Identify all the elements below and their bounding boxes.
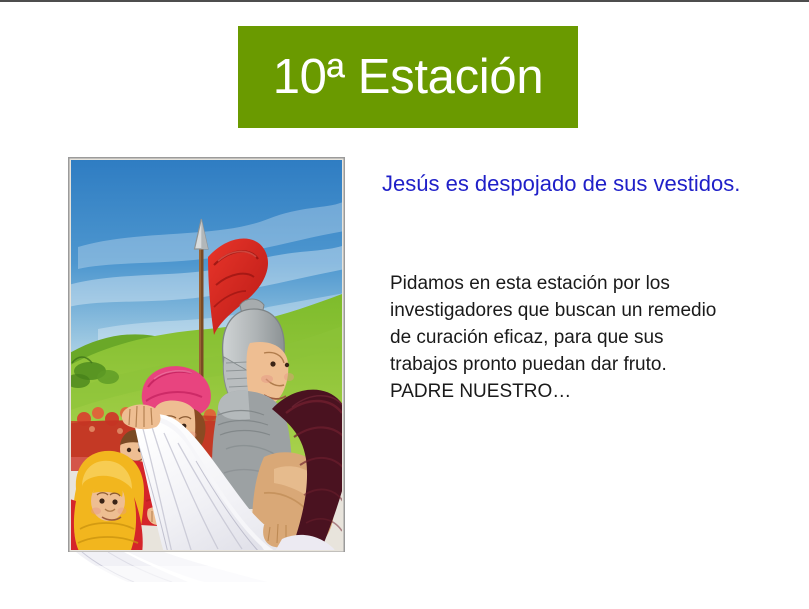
station-illustration-bleed — [68, 552, 345, 582]
slide-top-border — [0, 0, 809, 2]
station-illustration-artwork — [68, 157, 345, 553]
prayer-line-2: investigadores que buscan un remedio — [390, 297, 790, 324]
slide-title: 10ª Estación — [273, 53, 544, 102]
prayer-line-5: PADRE NUESTRO… — [390, 378, 790, 405]
station-prayer-text: Pidamos en esta estación por los investi… — [390, 270, 790, 405]
prayer-line-1: Pidamos en esta estación por los — [390, 270, 790, 297]
prayer-line-4: trabajos pronto puedan dar fruto. — [390, 351, 790, 378]
presentation-slide: 10ª Estación — [0, 0, 809, 609]
station-headline: Jesús es despojado de sus vestidos. — [382, 170, 742, 198]
title-banner: 10ª Estación — [238, 26, 578, 128]
prayer-line-3: de curación eficaz, para que sus — [390, 324, 790, 351]
station-illustration — [68, 157, 345, 553]
station-illustration-bleed-artwork — [68, 552, 345, 582]
